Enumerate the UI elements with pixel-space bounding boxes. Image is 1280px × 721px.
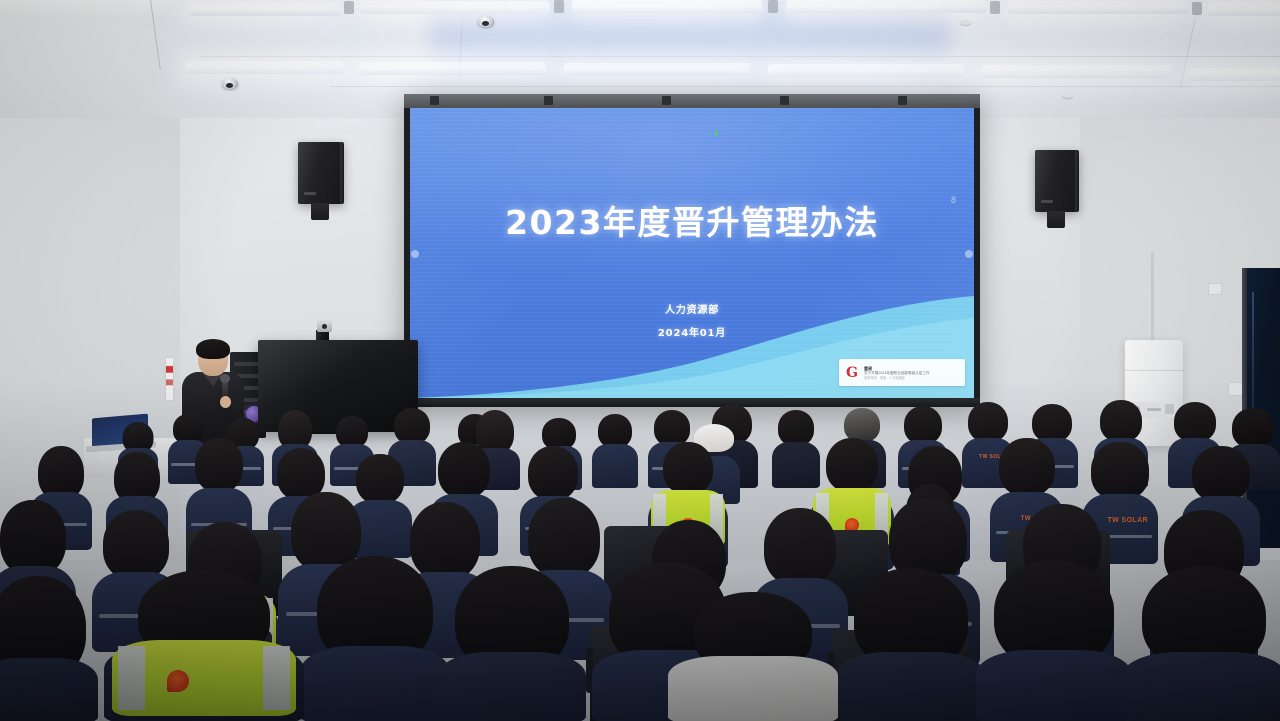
attendee — [976, 560, 1132, 721]
ceiling-light-strip — [786, 0, 986, 13]
ceiling-light-strip — [1190, 68, 1280, 81]
light-endcap — [1192, 2, 1202, 15]
led-presentation-screen[interactable]: 2023年度晋升管理办法 人力资源部 2024年01月 G 重磅 关于开展202… — [404, 94, 980, 407]
video-conference-camera — [317, 320, 332, 332]
g-logo-icon: G — [845, 366, 859, 380]
ceiling-light-strip — [190, 3, 340, 16]
screen-top-frame — [404, 94, 980, 108]
flame-logo-icon — [167, 670, 189, 692]
dome-camera-icon — [478, 16, 494, 27]
ceiling-screen-reflection — [430, 0, 950, 100]
ceiling-panel-seam — [330, 86, 1280, 87]
hi-vis-vest — [112, 640, 296, 716]
light-endcap — [554, 0, 564, 13]
watermark-line-3: 发布时间 · 来源 · 人力资源部 — [864, 376, 959, 380]
smoke-detector-icon — [1062, 93, 1073, 98]
attendee — [0, 576, 98, 721]
attendee — [300, 556, 450, 721]
light-endcap — [990, 1, 1000, 14]
ac-pipe — [1151, 252, 1154, 342]
ceiling-light-strip — [572, 0, 762, 13]
conference-room-photo: 2023年度晋升管理办法 人力资源部 2024年01月 G 重磅 关于开展202… — [0, 0, 1280, 721]
light-endcap — [768, 0, 778, 13]
slide-subtitle-department: 人力资源部 — [410, 301, 974, 316]
ceiling-light-strip — [360, 62, 546, 75]
audience: TW SOLAR TW SOLAR — [0, 380, 1280, 721]
slide-surface: 2023年度晋升管理办法 人力资源部 2024年01月 G 重磅 关于开展202… — [410, 108, 974, 398]
ceiling-light-strip — [768, 64, 964, 77]
smoke-detector-icon — [960, 20, 971, 25]
slide-next-arrow-icon[interactable] — [965, 250, 973, 258]
ceiling-light-strip — [186, 61, 344, 74]
white-hoodie — [668, 656, 838, 721]
wall-speaker-left — [298, 142, 344, 204]
slide-prev-arrow-icon[interactable] — [411, 250, 419, 258]
slide-title: 2023年度晋升管理办法 — [410, 196, 974, 244]
ceiling-light-strip — [360, 1, 550, 14]
attendee — [1122, 566, 1280, 721]
slide-subtitle-date: 2024年01月 — [410, 324, 974, 339]
ceiling-light-strip — [1008, 1, 1188, 14]
status-indicator-dot — [715, 130, 718, 136]
light-endcap — [344, 1, 354, 14]
attendee — [836, 568, 986, 721]
attendee — [668, 592, 838, 721]
ceiling-light-strip — [564, 63, 750, 76]
ceiling-light-strip — [982, 65, 1172, 78]
user-badge-icon: 8 — [951, 196, 956, 205]
wall-outlet — [1208, 283, 1222, 295]
wall-speaker-right — [1035, 150, 1079, 212]
attendee — [438, 566, 586, 721]
ceiling-panel-seam — [200, 56, 1280, 57]
attendee-hi-vis — [104, 570, 304, 721]
ceiling-light-strip — [1208, 3, 1280, 16]
dome-camera-icon — [222, 78, 238, 89]
attendee — [592, 414, 638, 488]
